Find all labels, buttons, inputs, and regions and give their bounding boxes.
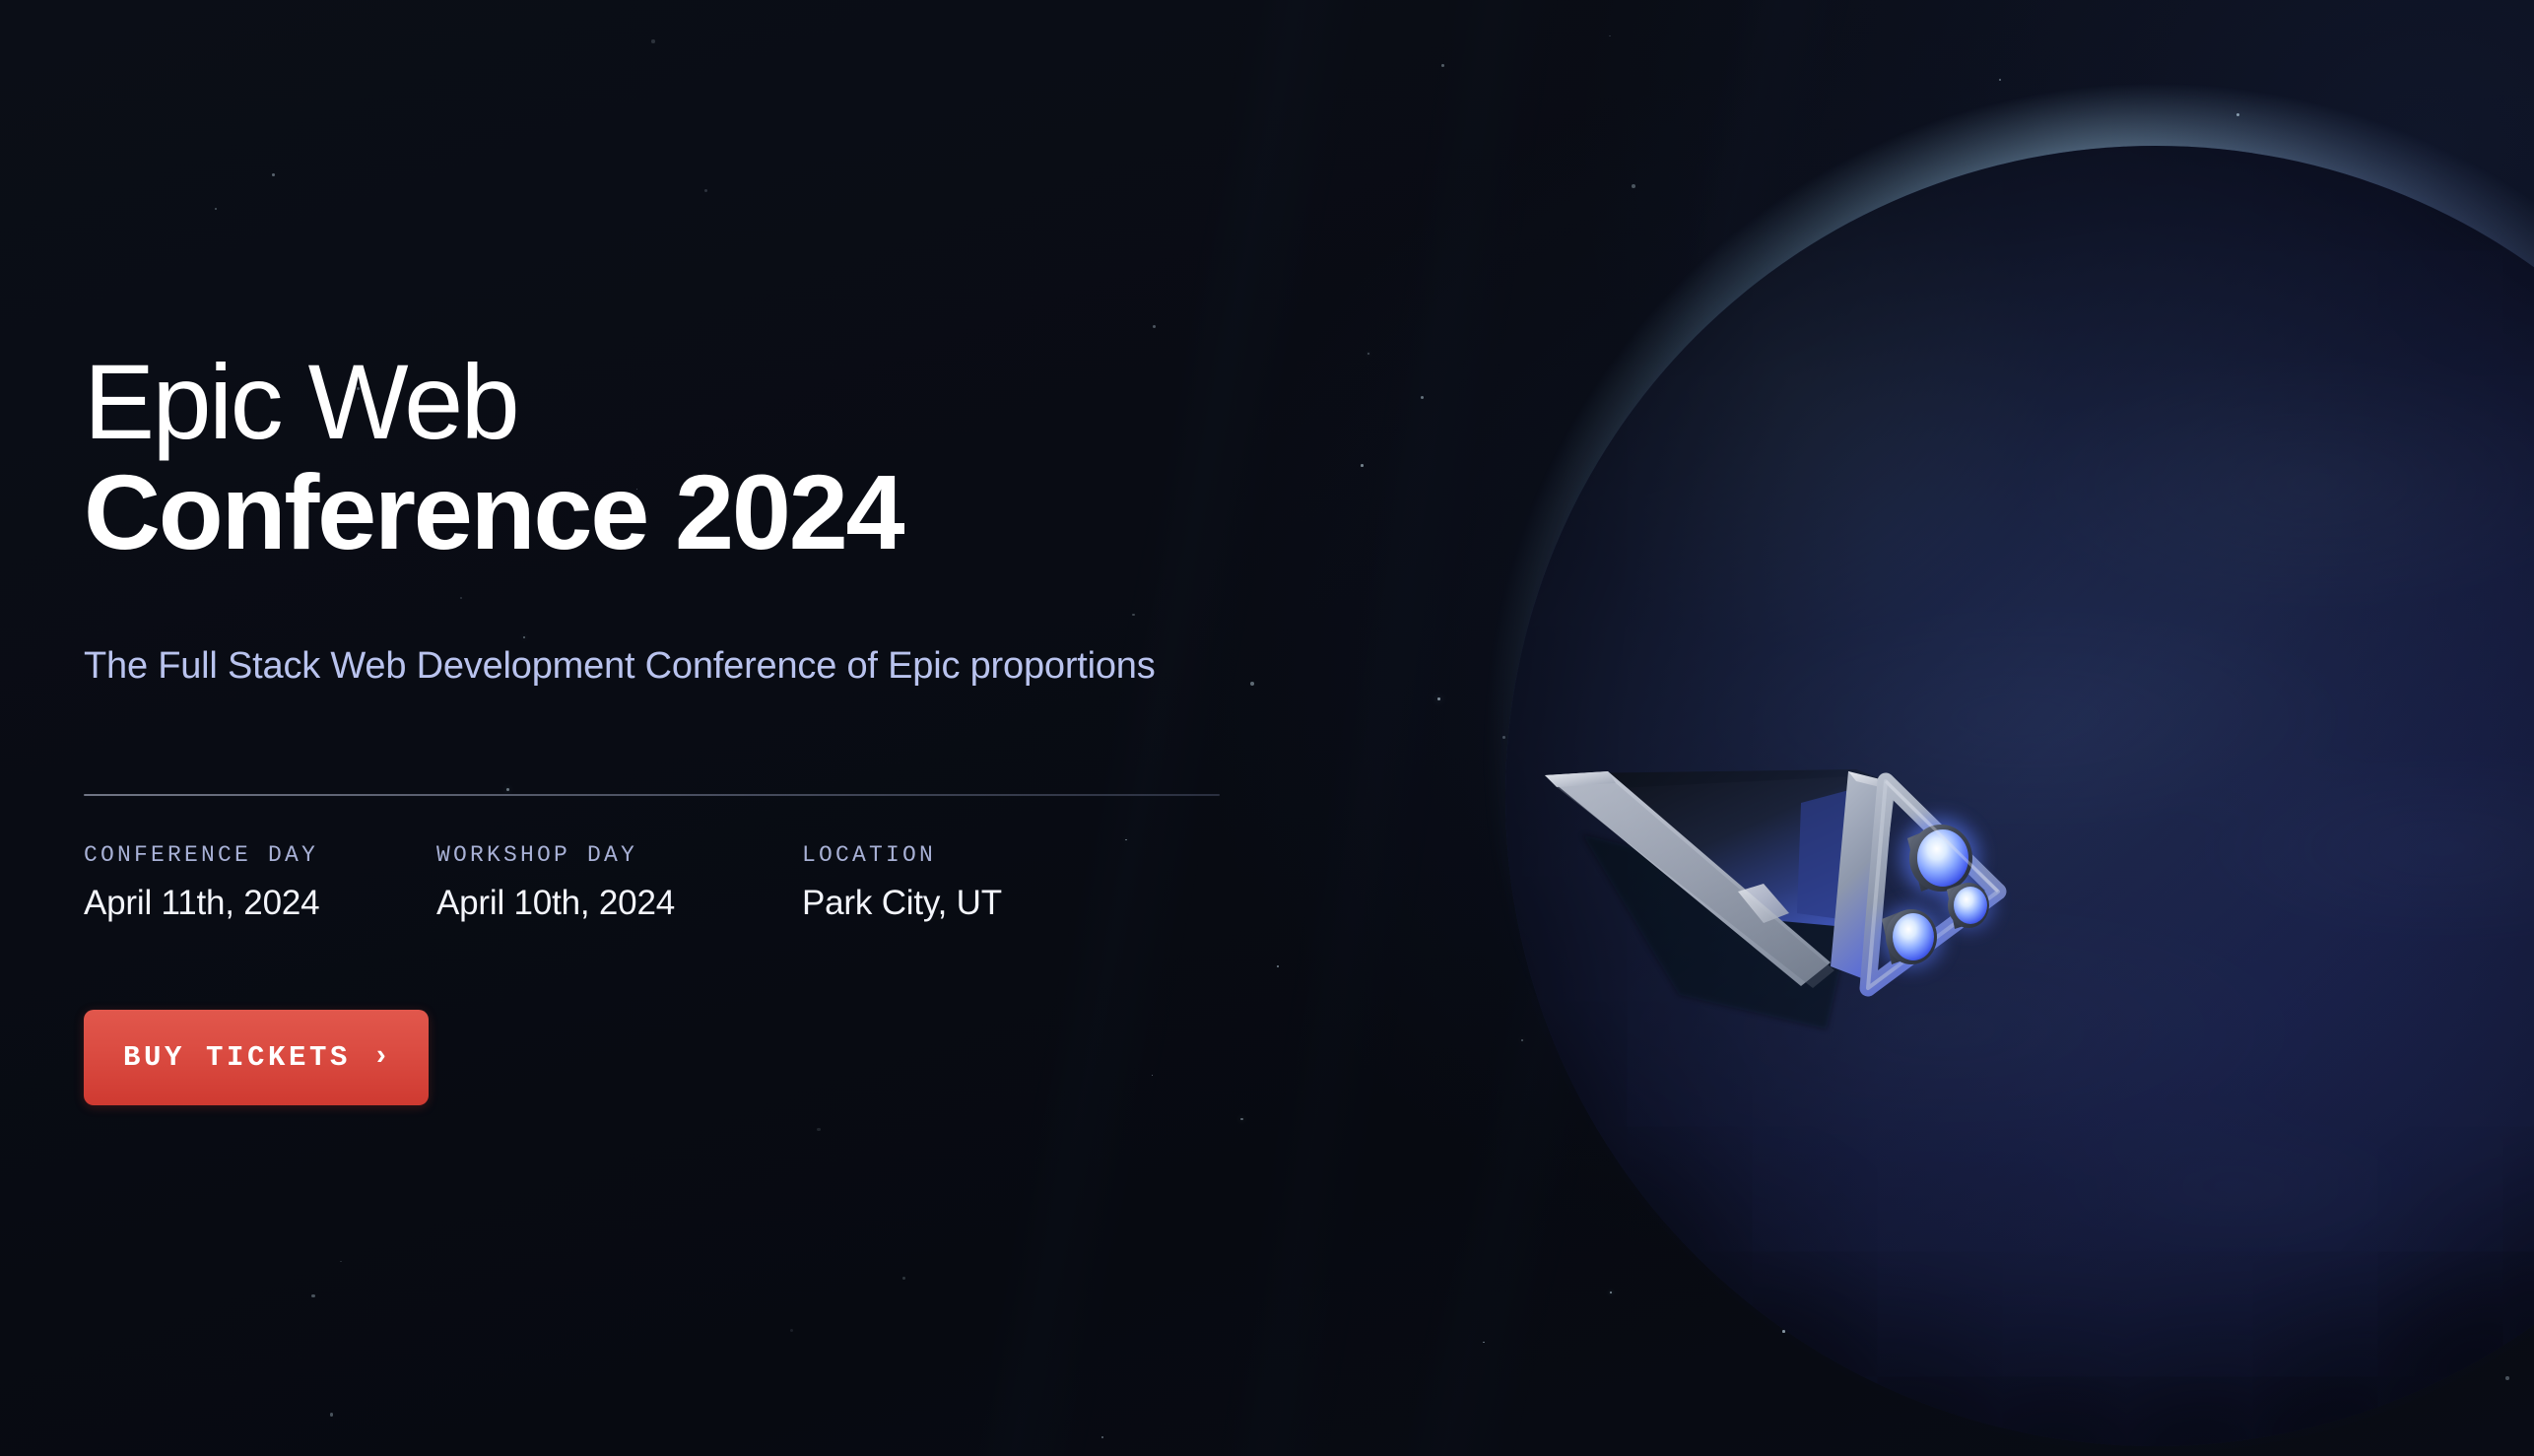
chevron-right-icon: › xyxy=(372,1042,389,1071)
star xyxy=(2050,566,2054,570)
star xyxy=(2505,1376,2509,1380)
detail-value: April 11th, 2024 xyxy=(84,884,436,923)
star xyxy=(2027,1003,2030,1006)
planet-glow-crescent xyxy=(1387,0,2534,1456)
page-title: Epic Web Conference 2024 xyxy=(84,347,1266,568)
star xyxy=(2471,937,2474,940)
star xyxy=(1421,396,1424,399)
star xyxy=(1521,1039,1524,1042)
star xyxy=(2260,190,2264,194)
hero-subtitle: The Full Stack Web Development Conferenc… xyxy=(84,645,1156,688)
detail-workshop-day: WORKSHOP DAY April 10th, 2024 xyxy=(436,842,802,923)
planet-surface-texture xyxy=(1505,146,2534,1446)
detail-conference-day: CONFERENCE DAY April 11th, 2024 xyxy=(84,842,436,923)
buy-tickets-label: BUY TICKETS xyxy=(123,1041,351,1074)
star xyxy=(1943,630,1946,633)
star xyxy=(2232,990,2234,992)
star xyxy=(1609,35,1610,36)
star xyxy=(2326,580,2330,584)
star xyxy=(1367,353,1368,354)
star xyxy=(2273,1379,2276,1382)
star xyxy=(2497,643,2500,646)
star xyxy=(1668,549,1671,552)
star xyxy=(1999,79,2001,81)
detail-location: LOCATION Park City, UT xyxy=(802,842,1002,923)
star xyxy=(1780,583,1783,586)
star xyxy=(1902,797,1905,800)
detail-value: April 10th, 2024 xyxy=(436,884,802,923)
star xyxy=(1483,1342,1485,1344)
star xyxy=(2458,307,2462,311)
planet-terminator-shadow xyxy=(1505,146,2534,1446)
star xyxy=(2161,1018,2165,1022)
planet-rim-light-secondary xyxy=(1505,146,2534,1446)
star xyxy=(1679,1092,1682,1094)
star xyxy=(2170,855,2175,860)
star xyxy=(2132,259,2136,263)
star xyxy=(1781,663,1784,666)
star xyxy=(2244,492,2246,494)
planet-body xyxy=(1505,146,2534,1446)
event-details: CONFERENCE DAY April 11th, 2024 WORKSHOP… xyxy=(84,842,1002,923)
planet-glow-halo xyxy=(1176,0,2534,1456)
title-line-1: Epic Web xyxy=(84,347,1266,456)
star xyxy=(2171,947,2173,949)
star xyxy=(1610,911,1614,915)
star xyxy=(1901,1335,1905,1339)
star xyxy=(2528,618,2532,622)
star xyxy=(2147,948,2150,951)
title-line-2: Conference 2024 xyxy=(84,456,1266,567)
hero-section: Epic Web Conference 2024 The Full Stack … xyxy=(0,0,2534,1456)
star xyxy=(1586,920,1588,922)
star xyxy=(2229,442,2233,446)
star xyxy=(1610,1291,1612,1293)
star xyxy=(2343,1392,2346,1395)
detail-label: CONFERENCE DAY xyxy=(84,842,436,868)
spaceship-illustration xyxy=(1505,744,2018,1029)
star xyxy=(1601,783,1604,786)
star xyxy=(2170,147,2173,150)
star xyxy=(2194,407,2196,409)
star xyxy=(1502,736,1505,739)
planet-illustration xyxy=(1505,146,2534,1446)
star xyxy=(1782,1330,1785,1333)
star xyxy=(1971,828,1975,832)
star xyxy=(2236,113,2240,117)
star xyxy=(2338,713,2341,716)
detail-label: LOCATION xyxy=(802,842,1002,868)
star xyxy=(2110,677,2114,681)
star xyxy=(2166,1054,2169,1058)
star xyxy=(1632,184,1635,188)
star xyxy=(2218,1384,2220,1386)
star xyxy=(1437,697,1440,700)
hero-content: Epic Web Conference 2024 The Full Stack … xyxy=(84,0,1365,1456)
detail-label: WORKSHOP DAY xyxy=(436,842,802,868)
star xyxy=(1789,390,1792,393)
star xyxy=(2407,1138,2410,1141)
star xyxy=(1999,1141,2003,1145)
star xyxy=(1784,468,1787,471)
content-divider xyxy=(84,794,1220,796)
planet-rim-light xyxy=(1505,146,2534,1446)
detail-value: Park City, UT xyxy=(802,884,1002,923)
star xyxy=(1441,64,1444,67)
buy-tickets-button[interactable]: BUY TICKETS › xyxy=(84,1010,429,1105)
star xyxy=(2256,1319,2259,1322)
